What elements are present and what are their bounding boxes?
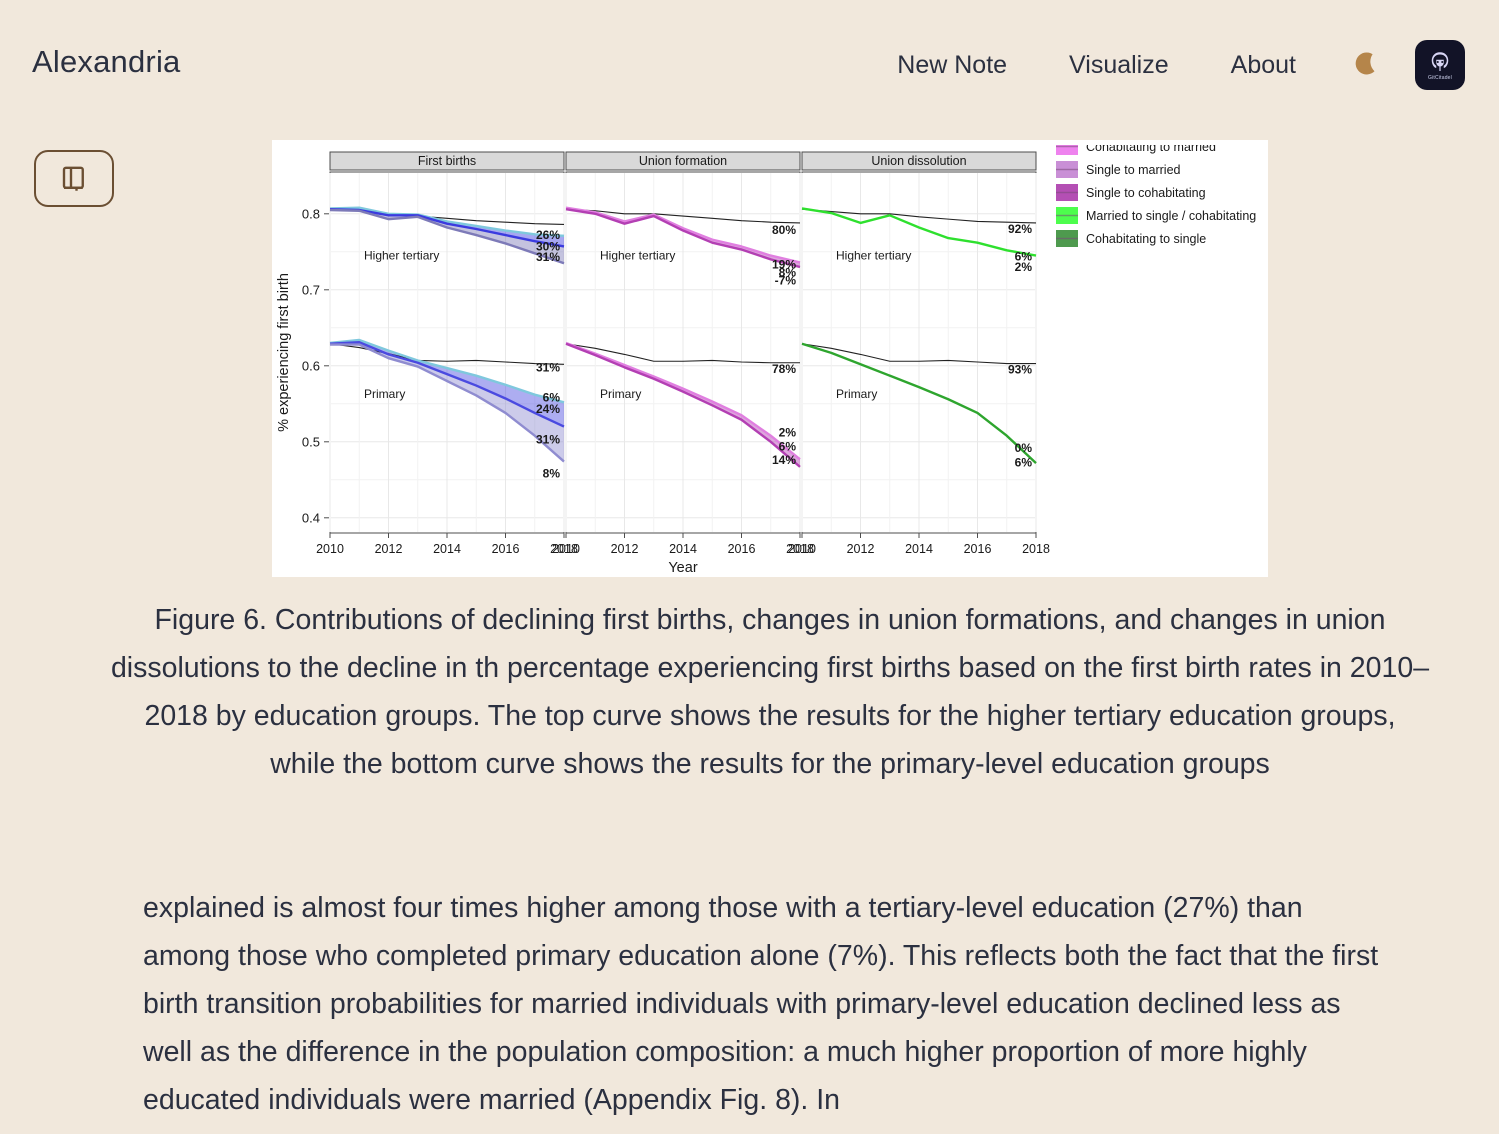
svg-text:78%: 78% bbox=[772, 362, 796, 376]
svg-text:2%: 2% bbox=[1015, 260, 1033, 274]
gitcitadel-helmet-icon bbox=[1428, 50, 1452, 74]
svg-text:0.8: 0.8 bbox=[302, 206, 320, 221]
svg-text:Year: Year bbox=[668, 560, 697, 576]
moon-icon bbox=[1353, 50, 1383, 80]
svg-text:Married to single / cohabitati: Married to single / cohabitating bbox=[1086, 209, 1256, 223]
svg-text:% experiencing first birth: % experiencing first birth bbox=[276, 273, 292, 432]
svg-text:0.4: 0.4 bbox=[302, 510, 320, 525]
nav-links: New Note Visualize About GitCit bbox=[866, 40, 1465, 90]
library-toggle-button[interactable] bbox=[34, 150, 114, 207]
svg-text:31%: 31% bbox=[536, 250, 560, 264]
figure-caption: Figure 6. Contributions of declining fir… bbox=[110, 596, 1430, 788]
svg-text:Single to cohabitating: Single to cohabitating bbox=[1086, 186, 1206, 200]
svg-text:31%: 31% bbox=[536, 433, 560, 447]
svg-text:First births: First births bbox=[418, 154, 476, 168]
svg-text:2012: 2012 bbox=[375, 542, 403, 556]
svg-text:31%: 31% bbox=[536, 360, 560, 374]
svg-text:24%: 24% bbox=[536, 402, 560, 416]
svg-text:2016: 2016 bbox=[492, 542, 520, 556]
svg-text:92%: 92% bbox=[1008, 222, 1032, 236]
theme-toggle-button[interactable] bbox=[1345, 42, 1391, 88]
gitcitadel-badge-label: GitCitadel bbox=[1428, 75, 1452, 81]
svg-text:Union formation: Union formation bbox=[639, 154, 727, 168]
svg-text:Higher tertiary: Higher tertiary bbox=[364, 249, 439, 263]
svg-text:Single to married: Single to married bbox=[1086, 163, 1181, 177]
svg-text:2014: 2014 bbox=[669, 542, 697, 556]
svg-text:0.7: 0.7 bbox=[302, 282, 320, 297]
svg-text:2010: 2010 bbox=[316, 542, 344, 556]
svg-text:Primary: Primary bbox=[364, 387, 405, 401]
svg-text:Primary: Primary bbox=[600, 387, 641, 401]
svg-text:14%: 14% bbox=[772, 453, 796, 467]
svg-text:0.5: 0.5 bbox=[302, 434, 320, 449]
svg-text:6%: 6% bbox=[1015, 455, 1033, 469]
svg-text:2012: 2012 bbox=[847, 542, 875, 556]
svg-text:Higher tertiary: Higher tertiary bbox=[836, 249, 911, 263]
gitcitadel-account-badge[interactable]: GitCitadel bbox=[1415, 40, 1465, 90]
svg-text:2%: 2% bbox=[779, 426, 797, 440]
svg-text:80%: 80% bbox=[772, 223, 796, 237]
svg-text:2014: 2014 bbox=[433, 542, 461, 556]
svg-text:Union dissolution: Union dissolution bbox=[871, 154, 966, 168]
svg-text:Higher tertiary: Higher tertiary bbox=[600, 249, 675, 263]
svg-text:0.6: 0.6 bbox=[302, 358, 320, 373]
svg-text:2014: 2014 bbox=[905, 542, 933, 556]
svg-text:2010: 2010 bbox=[552, 542, 580, 556]
svg-text:8%: 8% bbox=[543, 467, 561, 481]
svg-text:2018: 2018 bbox=[1022, 542, 1050, 556]
svg-text:Primary: Primary bbox=[836, 387, 877, 401]
svg-text:6%: 6% bbox=[779, 439, 797, 453]
body-paragraph: explained is almost four times higher am… bbox=[143, 884, 1393, 1124]
svg-text:2016: 2016 bbox=[964, 542, 992, 556]
svg-text:0%: 0% bbox=[1015, 441, 1033, 455]
book-icon bbox=[59, 164, 89, 194]
app-brand-title[interactable]: Alexandria bbox=[32, 44, 180, 80]
svg-text:2010: 2010 bbox=[788, 542, 816, 556]
figure-6-chart: % experiencing first birth0.40.50.60.70.… bbox=[272, 140, 1268, 577]
svg-text:2012: 2012 bbox=[611, 542, 639, 556]
nav-new-note[interactable]: New Note bbox=[866, 51, 1038, 80]
svg-text:-7%: -7% bbox=[775, 274, 797, 288]
svg-text:Cohabitating to single: Cohabitating to single bbox=[1086, 232, 1206, 246]
app-root: Alexandria New Note Visualize About bbox=[0, 0, 1499, 1134]
nav-about[interactable]: About bbox=[1200, 51, 1327, 80]
top-navigation-bar: Alexandria New Note Visualize About bbox=[0, 0, 1499, 128]
svg-text:93%: 93% bbox=[1008, 363, 1032, 377]
figure-card: % experiencing first birth0.40.50.60.70.… bbox=[272, 140, 1268, 577]
nav-visualize[interactable]: Visualize bbox=[1038, 51, 1200, 80]
svg-text:2016: 2016 bbox=[728, 542, 756, 556]
